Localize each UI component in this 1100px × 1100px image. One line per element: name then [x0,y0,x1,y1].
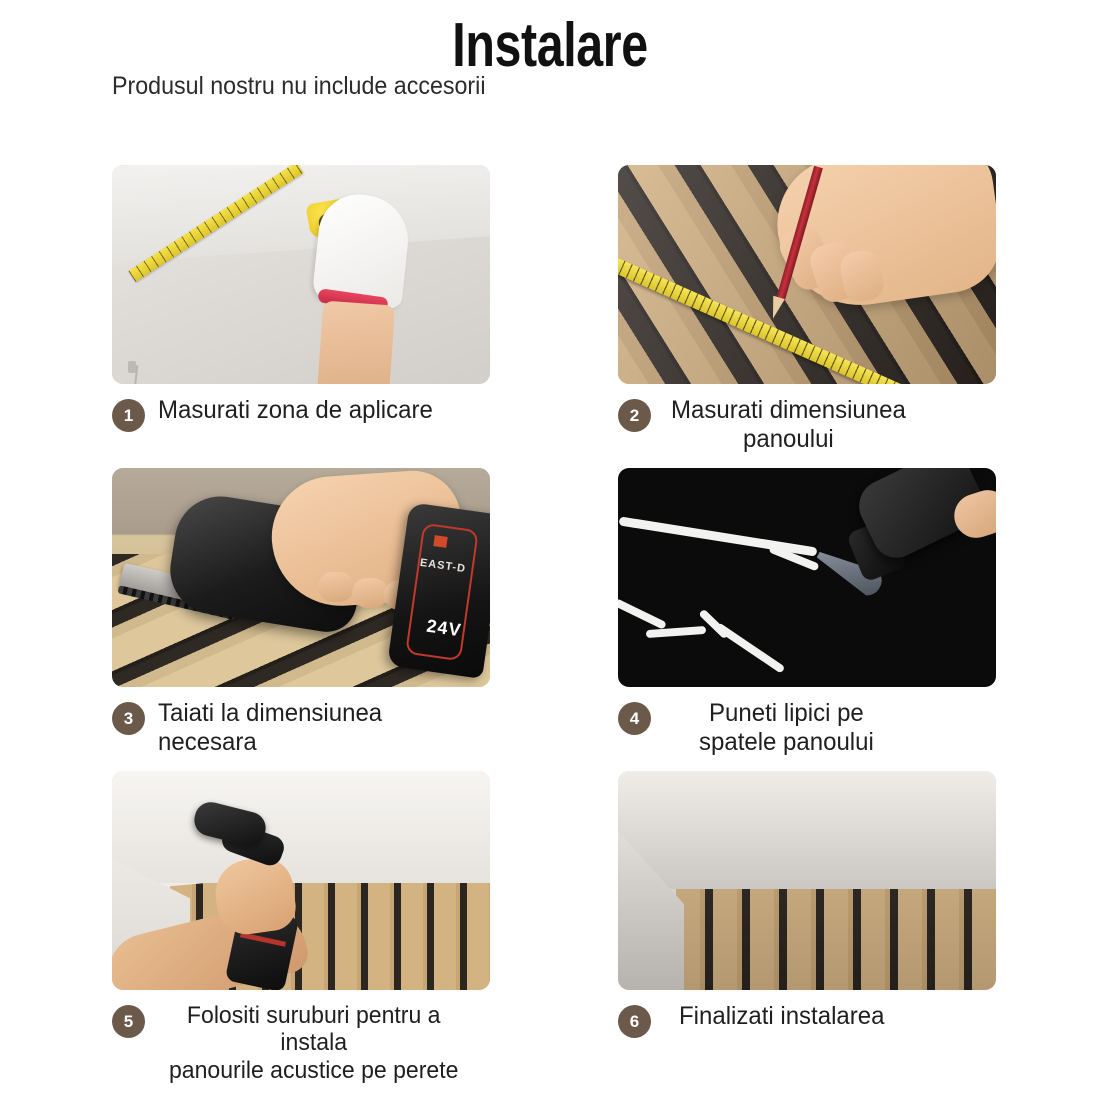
steps-grid: 1 Masurati zona de aplicare [112,165,990,1074]
step-badge-4: 4 [618,702,651,735]
step-caption-4: 4 Puneti lipici pe spatele panoului [618,699,996,756]
step-card-1: 1 Masurati zona de aplicare [112,165,490,452]
step-text-3: Taiati la dimensiunea necesara [158,699,477,756]
step-caption-3: 3 Taiati la dimensiunea necesara [112,699,490,756]
step-text-6: Finalizati instalarea [679,1002,884,1031]
step-caption-5: 5 Folositi suruburi pentru a instala pan… [112,1002,490,1084]
step-badge-2: 2 [618,399,651,432]
measuring-wall-area-photo [112,165,490,384]
step-text-5: Folositi suruburi pentru a instala panou… [151,1002,476,1084]
steps-row-1: 1 Masurati zona de aplicare [112,165,990,468]
step-text-1: Masurati zona de aplicare [158,396,433,425]
step-card-4: 4 Puneti lipici pe spatele panoului [618,468,996,756]
step-card-5: 5 Folositi suruburi pentru a instala pan… [112,771,490,1084]
step-badge-1: 1 [112,399,145,432]
measuring-panel-photo [618,165,996,384]
step-card-3: EAST-D 24V 3 Taiati la dimensiunea neces… [112,468,490,756]
step-caption-1: 1 Masurati zona de aplicare [112,396,490,452]
step-badge-6: 6 [618,1005,651,1038]
applying-glue-photo [618,468,996,687]
page-subtitle: Produsul nostru nu include accesorii [112,72,486,101]
step-card-6: 6 Finalizati instalarea [618,771,996,1058]
installation-guide-page: Instalare Produsul nostru nu include acc… [0,0,1100,1100]
step-badge-3: 3 [112,702,145,735]
steps-row-3: 5 Folositi suruburi pentru a instala pan… [112,771,990,1074]
step-caption-6: 6 Finalizati instalarea [618,1002,996,1058]
cutting-panel-photo: EAST-D 24V [112,468,490,687]
finished-installation-photo [618,771,996,990]
step-caption-2: 2 Masurati dimensiunea panoului [618,396,996,453]
step-card-2: 2 Masurati dimensiunea panoului [618,165,996,453]
steps-row-2: EAST-D 24V 3 Taiati la dimensiunea neces… [112,468,990,771]
step-text-2: Masurati dimensiunea panoului [671,396,906,453]
step-text-4: Puneti lipici pe spatele panoului [699,699,874,756]
page-title: Instalare [121,10,979,81]
screwing-panel-photo [112,771,490,990]
step-badge-5: 5 [112,1005,145,1038]
